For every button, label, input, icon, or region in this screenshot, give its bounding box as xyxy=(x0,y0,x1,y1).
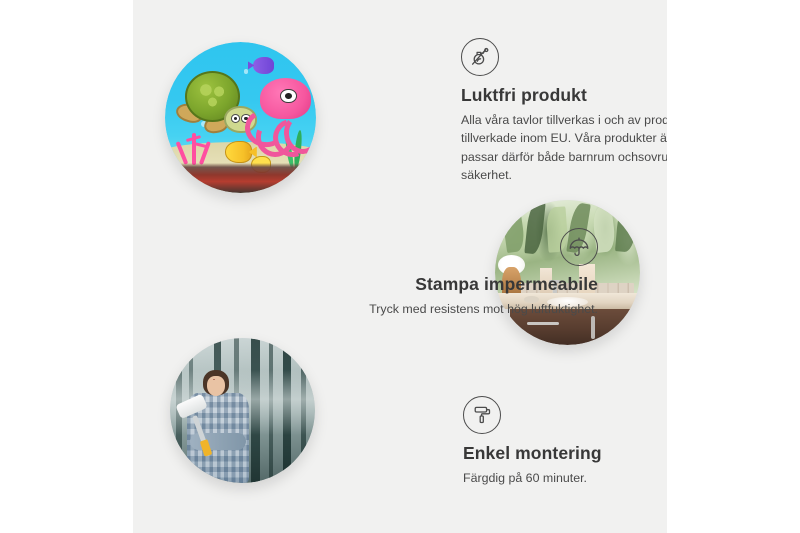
feature-odourless: Luktfri produkt Alla våra tavlor tillver… xyxy=(461,38,667,184)
feature-odourless-body: Alla våra tavlor tillverkas i och av pro… xyxy=(461,111,667,184)
feature-waterproof-title: Stampa impermeabile xyxy=(328,274,598,295)
image-ocean xyxy=(165,42,316,193)
feature-waterproof-icon-row xyxy=(328,228,598,266)
image-forest xyxy=(170,338,315,483)
feature-mounting: Enkel montering Färgdig på 60 minuter. xyxy=(463,396,667,487)
paint-roller-icon xyxy=(463,396,501,434)
feature-odourless-title: Luktfri produkt xyxy=(461,85,667,106)
woman-figure xyxy=(182,370,266,483)
ocean-foreground-strip xyxy=(165,163,316,193)
octopus xyxy=(245,78,311,144)
feature-mounting-icon-row xyxy=(463,396,667,434)
feature-mounting-body: Färgdig på 60 minuter. xyxy=(463,469,667,487)
sea-turtle xyxy=(179,71,255,134)
feature-mounting-title: Enkel montering xyxy=(463,443,667,464)
no-fragrance-icon xyxy=(461,38,499,76)
feature-waterproof-body: Tryck med resistens mot hög luftfuktighe… xyxy=(328,300,598,318)
drawer-handle xyxy=(527,322,559,326)
page-root: Luktfri produkt Alla våra tavlor tillver… xyxy=(0,0,800,533)
umbrella-icon xyxy=(560,228,598,266)
content-panel: Luktfri produkt Alla våra tavlor tillver… xyxy=(133,0,667,533)
purple-fish xyxy=(253,57,274,74)
image-ocean-inner xyxy=(165,42,316,193)
image-forest-inner xyxy=(170,338,315,483)
feature-waterproof: Stampa impermeabile Tryck med resistens … xyxy=(328,228,598,318)
cabinet-handle xyxy=(591,316,595,339)
feature-odourless-icon-row xyxy=(461,38,667,76)
yellow-fish xyxy=(225,141,251,163)
